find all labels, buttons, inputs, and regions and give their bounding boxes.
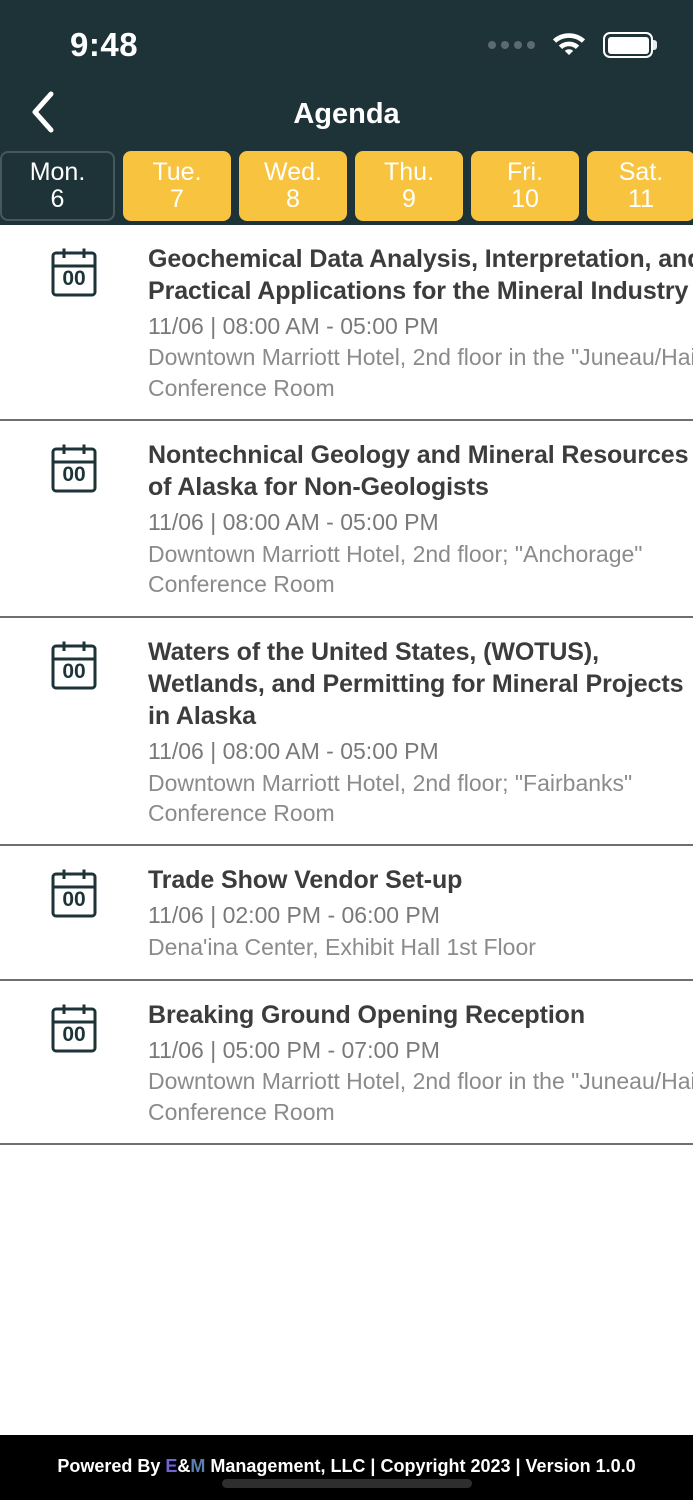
agenda-item-time: 11/06 | 08:00 AM - 05:00 PM xyxy=(148,737,693,767)
footer-prefix: Powered By xyxy=(57,1456,165,1476)
agenda-item-time: 11/06 | 02:00 PM - 06:00 PM xyxy=(148,901,693,931)
back-button[interactable] xyxy=(0,80,86,148)
agenda-item-location-line1: Downtown Marriott Hotel, 2nd floor in th… xyxy=(148,1068,693,1094)
agenda-item-time: 11/06 | 05:00 PM - 07:00 PM xyxy=(148,1036,693,1066)
agenda-item[interactable]: 00Geochemical Data Analysis, Interpretat… xyxy=(0,225,693,422)
day-tab-thu[interactable]: Thu.9 xyxy=(355,151,463,221)
page-title: Agenda xyxy=(0,98,693,131)
day-tab-wed[interactable]: Wed.8 xyxy=(239,151,347,221)
day-tabs[interactable]: Mon.6Tue.7Wed.8Thu.9Fri.10Sat.11 xyxy=(0,148,693,225)
battery-full-icon xyxy=(603,32,653,58)
calendar-icon-container: 00 xyxy=(0,864,148,918)
day-tab-date: 10 xyxy=(511,186,539,212)
calendar-icon-label: 00 xyxy=(50,1024,98,1045)
calendar-icon: 00 xyxy=(50,443,98,493)
calendar-icon-label: 00 xyxy=(50,268,98,289)
agenda-item-title: Trade Show Vendor Set-up xyxy=(148,864,693,896)
day-tab-weekday: Mon. xyxy=(30,159,86,185)
agenda-item-location: Downtown Marriott Hotel, 2nd floor in th… xyxy=(148,1066,693,1127)
day-tab-sat[interactable]: Sat.11 xyxy=(587,151,693,221)
agenda-item-body: Nontechnical Geology and Mineral Resourc… xyxy=(148,439,693,600)
day-tab-mon[interactable]: Mon.6 xyxy=(0,151,115,221)
agenda-item-body: Waters of the United States, (WOTUS), We… xyxy=(148,636,693,829)
status-indicators xyxy=(488,30,653,61)
agenda-item-location-line2: Conference Room xyxy=(148,373,693,403)
calendar-icon-label: 00 xyxy=(50,661,98,682)
agenda-item-title: Geochemical Data Analysis, Interpretatio… xyxy=(148,243,693,307)
footer-credit: Powered By E&M Management, LLC | Copyrig… xyxy=(57,1456,635,1477)
agenda-item-location-line2: Conference Room xyxy=(148,1097,693,1127)
footer: Powered By E&M Management, LLC | Copyrig… xyxy=(0,1435,693,1500)
status-time: 9:48 xyxy=(70,26,138,64)
agenda-item[interactable]: 00Breaking Ground Opening Reception11/06… xyxy=(0,981,693,1146)
agenda-item-body: Breaking Ground Opening Reception11/06 |… xyxy=(148,999,693,1128)
day-tab-weekday: Sat. xyxy=(619,159,663,185)
calendar-icon: 00 xyxy=(50,247,98,297)
calendar-icon-label: 00 xyxy=(50,889,98,910)
calendar-icon: 00 xyxy=(50,640,98,690)
chevron-left-icon xyxy=(31,91,55,138)
agenda-item-title: Waters of the United States, (WOTUS), We… xyxy=(148,636,693,732)
calendar-icon-container: 00 xyxy=(0,636,148,690)
agenda-item-location: Downtown Marriott Hotel, 2nd floor; "Anc… xyxy=(148,539,693,600)
agenda-item-location: Dena'ina Center, Exhibit Hall 1st Floor xyxy=(148,932,693,962)
day-tab-date: 8 xyxy=(286,186,300,212)
agenda-item-body: Geochemical Data Analysis, Interpretatio… xyxy=(148,243,693,404)
navigation-bar: Agenda xyxy=(0,80,693,148)
agenda-item-location: Downtown Marriott Hotel, 2nd floor; "Fai… xyxy=(148,768,693,829)
agenda-item[interactable]: 00Trade Show Vendor Set-up11/06 | 02:00 … xyxy=(0,846,693,980)
calendar-icon: 00 xyxy=(50,1003,98,1053)
agenda-item-time: 11/06 | 08:00 AM - 05:00 PM xyxy=(148,312,693,342)
day-tab-fri[interactable]: Fri.10 xyxy=(471,151,579,221)
day-tab-date: 9 xyxy=(402,186,416,212)
calendar-icon-container: 00 xyxy=(0,439,148,493)
agenda-list: 00Geochemical Data Analysis, Interpretat… xyxy=(0,225,693,1436)
day-tab-tue[interactable]: Tue.7 xyxy=(123,151,231,221)
status-bar: 9:48 xyxy=(0,0,693,80)
agenda-item-location-line2: Conference Room xyxy=(148,569,693,599)
agenda-item[interactable]: 00Nontechnical Geology and Mineral Resou… xyxy=(0,421,693,618)
day-tab-weekday: Fri. xyxy=(507,159,543,185)
footer-suffix: Management, LLC | Copyright 2023 | Versi… xyxy=(205,1456,635,1476)
home-indicator[interactable] xyxy=(222,1479,472,1488)
agenda-item-location-line1: Downtown Marriott Hotel, 2nd floor; "Fai… xyxy=(148,770,632,796)
day-tab-date: 11 xyxy=(628,186,654,212)
calendar-icon-label: 00 xyxy=(50,464,98,485)
agenda-item-location-line2: Conference Room xyxy=(148,798,693,828)
day-tab-weekday: Wed. xyxy=(264,159,322,185)
agenda-item-location: Downtown Marriott Hotel, 2nd floor in th… xyxy=(148,342,693,403)
agenda-item-body: Trade Show Vendor Set-up11/06 | 02:00 PM… xyxy=(148,864,693,962)
calendar-icon: 00 xyxy=(50,868,98,918)
agenda-item[interactable]: 00Waters of the United States, (WOTUS), … xyxy=(0,618,693,847)
agenda-item-time: 11/06 | 08:00 AM - 05:00 PM xyxy=(148,508,693,538)
brand-letter-m: M xyxy=(190,1456,205,1476)
calendar-icon-container: 00 xyxy=(0,243,148,297)
brand-ampersand: & xyxy=(177,1456,190,1476)
day-tab-date: 6 xyxy=(51,186,65,212)
day-tab-weekday: Thu. xyxy=(384,159,434,185)
agenda-item-title: Nontechnical Geology and Mineral Resourc… xyxy=(148,439,693,503)
agenda-item-title: Breaking Ground Opening Reception xyxy=(148,999,693,1031)
day-tab-date: 7 xyxy=(170,186,184,212)
brand-letter-e: E xyxy=(165,1456,177,1476)
agenda-screen: 9:48 xyxy=(0,0,693,1500)
signal-dots-icon xyxy=(488,41,535,49)
day-tab-weekday: Tue. xyxy=(152,159,201,185)
agenda-item-location-line1: Downtown Marriott Hotel, 2nd floor in th… xyxy=(148,344,693,370)
agenda-item-location-line1: Downtown Marriott Hotel, 2nd floor; "Anc… xyxy=(148,541,642,567)
wifi-icon xyxy=(552,30,586,61)
agenda-item-location-line1: Dena'ina Center, Exhibit Hall 1st Floor xyxy=(148,934,536,960)
calendar-icon-container: 00 xyxy=(0,999,148,1053)
